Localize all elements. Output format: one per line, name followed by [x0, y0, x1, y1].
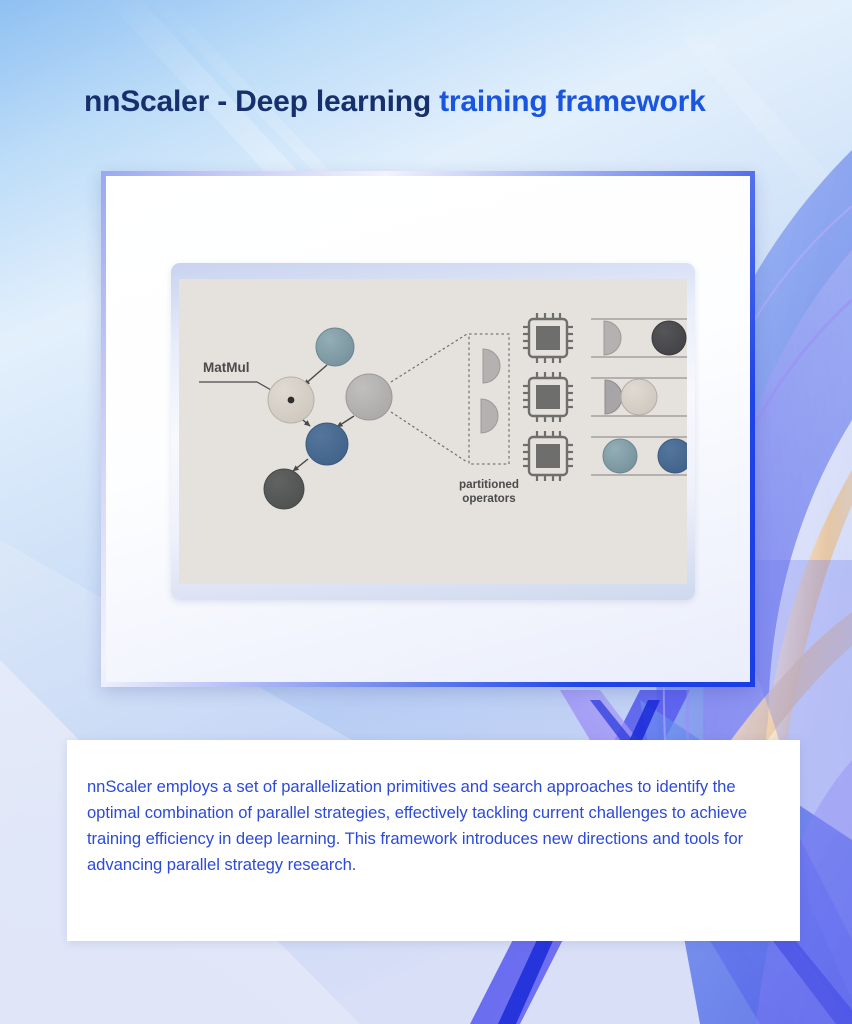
caption-card: nnScaler employs a set of parallelizatio…	[67, 740, 800, 941]
timeline-op-beige	[621, 379, 657, 415]
page-title: nnScaler - Deep learning training framew…	[84, 80, 804, 124]
graph-node-anchor-dot	[288, 397, 295, 404]
graph-node-dark	[264, 469, 304, 509]
partition-shard-top	[483, 349, 500, 383]
timeline-shard-1	[604, 321, 621, 355]
graph-nodes	[264, 328, 392, 509]
partitioned-operators-group: partitioned operators	[459, 334, 519, 505]
timeline-op-blue	[658, 439, 687, 473]
timeline-row-3	[591, 437, 687, 475]
execution-timelines	[591, 319, 687, 475]
graph-node-gray	[346, 374, 392, 420]
graph-node-blue	[306, 423, 348, 465]
figure-card: MatMul	[101, 171, 755, 687]
cpu-chip-icon-3	[523, 431, 573, 481]
timeline-op-dark	[652, 321, 686, 355]
graph-node-teal	[316, 328, 354, 366]
timeline-op-teal	[603, 439, 637, 473]
timeline-shard-2	[605, 380, 622, 414]
partition-cone	[391, 334, 467, 462]
page-title-accent: training framework	[431, 85, 706, 118]
cpu-chip-icon-1	[523, 313, 573, 363]
diagram-canvas: MatMul	[179, 279, 687, 584]
architecture-diagram: MatMul	[179, 279, 687, 584]
partition-shard-bottom	[481, 399, 498, 433]
partitioned-operators-label-line1: partitioned	[459, 478, 519, 491]
cpu-chip-icon-2	[523, 372, 573, 422]
timeline-row-1	[591, 319, 687, 357]
device-chips	[523, 313, 573, 481]
diagram-panel: MatMul	[171, 263, 695, 600]
partitioned-operators-label-line2: operators	[462, 492, 515, 505]
figure-card-surface: MatMul	[106, 176, 750, 682]
caption-text: nnScaler employs a set of parallelizatio…	[87, 774, 787, 878]
matmul-label: MatMul	[203, 360, 250, 375]
page-title-primary: nnScaler - Deep learning	[84, 85, 431, 118]
timeline-row-2	[591, 378, 687, 416]
